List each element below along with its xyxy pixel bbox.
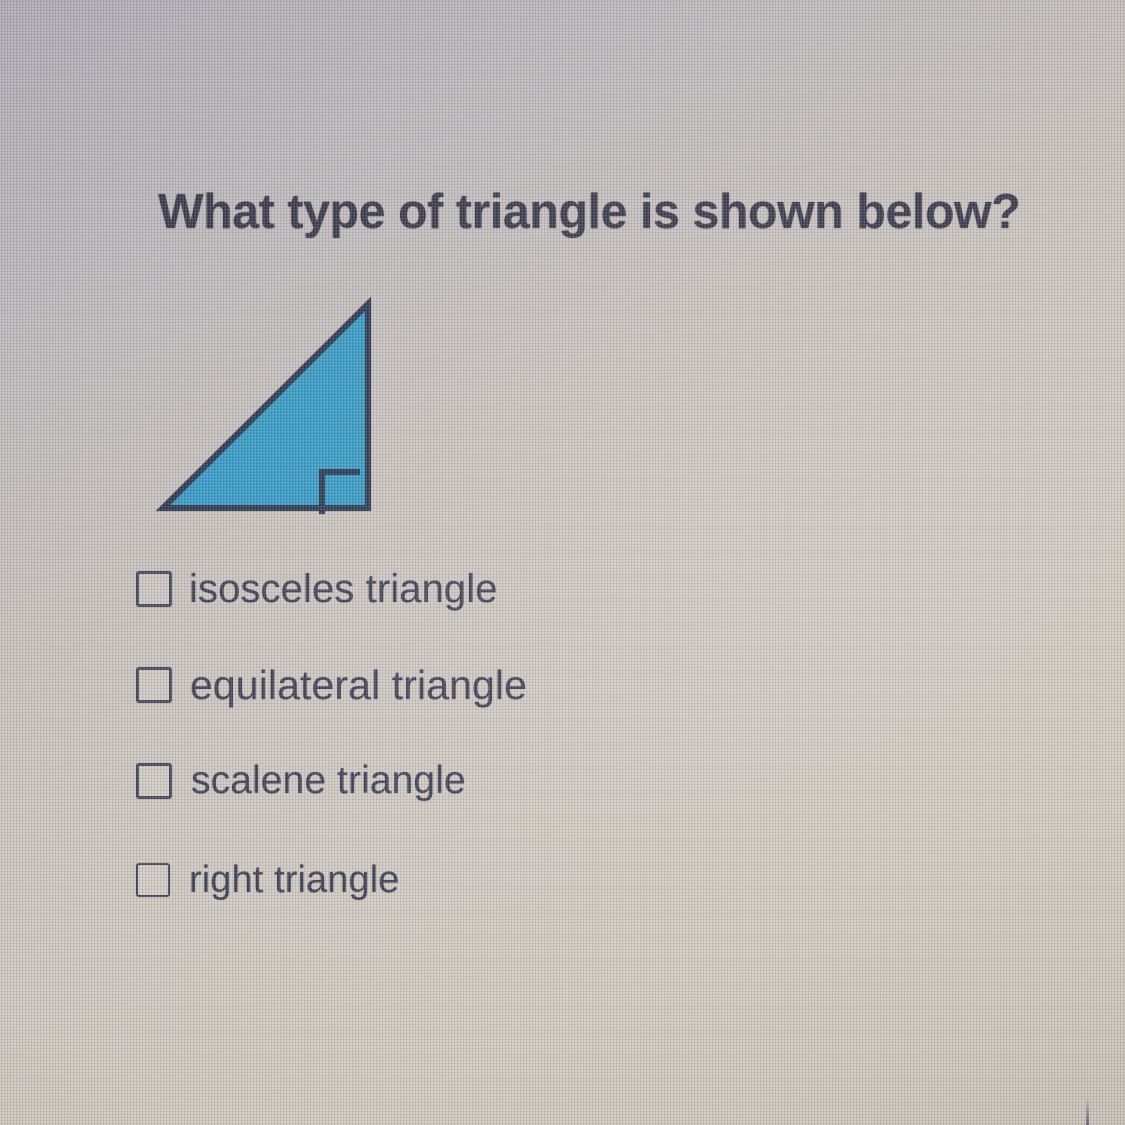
option-label-isosceles: isosceles triangle (189, 567, 498, 612)
right-triangle-graphic (150, 290, 390, 525)
checkbox-right[interactable] (136, 863, 170, 897)
checkbox-isosceles[interactable] (136, 571, 172, 607)
option-label-right: right triangle (189, 859, 400, 902)
triangle-shape (163, 304, 368, 508)
checkbox-equilateral[interactable] (136, 667, 172, 703)
option-row-right[interactable]: right triangle (136, 853, 400, 907)
option-row-scalene[interactable]: scalene triangle (136, 754, 466, 808)
checkbox-scalene[interactable] (136, 763, 172, 799)
page-title: What type of triangle is shown below? (158, 184, 1045, 240)
option-label-scalene: scalene triangle (191, 759, 466, 803)
option-label-equilateral: equilateral triangle (190, 662, 527, 709)
option-row-equilateral[interactable]: equilateral triangle (136, 658, 527, 712)
question-content: What type of triangle is shown below? is… (0, 0, 1125, 1125)
photographed-screen: What type of triangle is shown below? is… (0, 0, 1125, 1125)
triangle-figure (150, 290, 390, 525)
option-row-isosceles[interactable]: isosceles triangle (136, 562, 498, 616)
text-cursor-artifact (1086, 1098, 1089, 1125)
